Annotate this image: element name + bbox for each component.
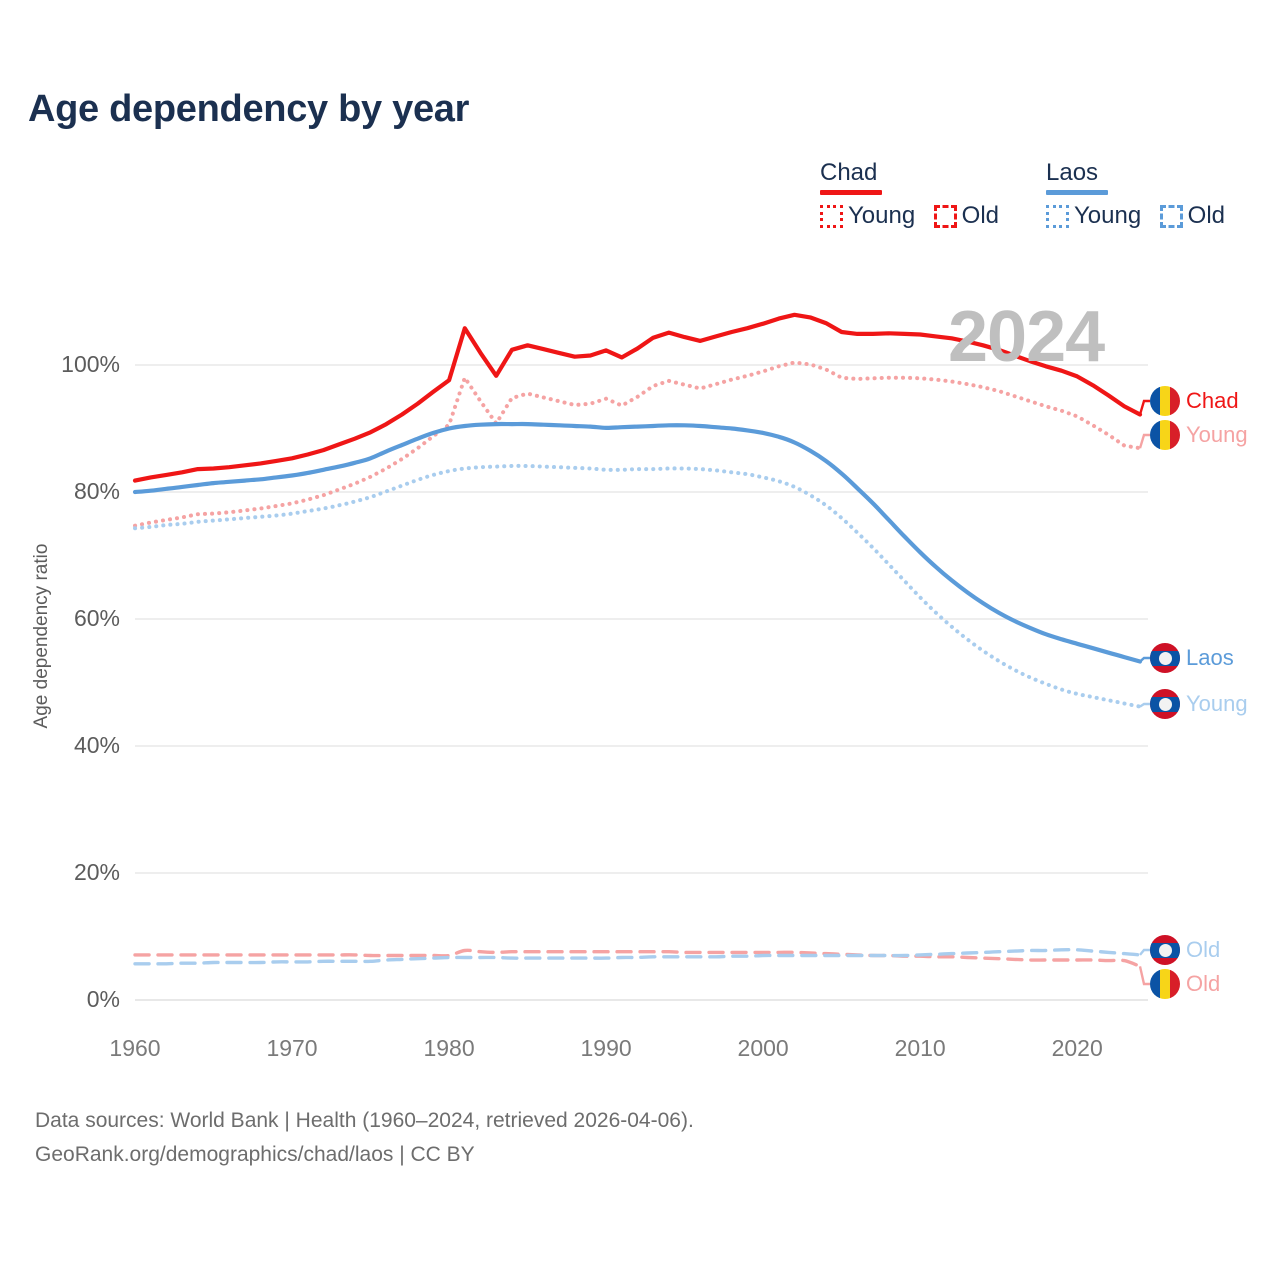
y-tick-label: 0% xyxy=(10,986,120,1013)
year-watermark: 2024 xyxy=(948,296,1104,378)
series-end-marker[interactable]: Old xyxy=(1150,935,1220,965)
chad-flag-icon xyxy=(1150,386,1180,416)
laos-flag-icon xyxy=(1150,689,1180,719)
leader-line xyxy=(1140,966,1150,984)
series-end-marker[interactable]: Old xyxy=(1150,969,1220,999)
x-tick-label: 2010 xyxy=(860,1035,980,1062)
chad-flag-icon xyxy=(1150,969,1180,999)
series-end-label: Old xyxy=(1186,937,1220,963)
leader-line xyxy=(1140,401,1150,415)
chart-page: Age dependency by year Chad Young Old La… xyxy=(0,0,1280,1280)
x-tick-label: 1970 xyxy=(232,1035,352,1062)
laos-flag-icon xyxy=(1150,935,1180,965)
footer: Data sources: World Bank | Health (1960–… xyxy=(35,1104,694,1172)
series-end-marker[interactable]: Young xyxy=(1150,689,1248,719)
x-tick-label: 1990 xyxy=(546,1035,666,1062)
y-tick-label: 40% xyxy=(10,732,120,759)
series-line xyxy=(135,466,1140,707)
series-end-label: Chad xyxy=(1186,388,1239,414)
y-tick-label: 80% xyxy=(10,478,120,505)
chad-flag-icon xyxy=(1150,420,1180,450)
footer-line-attribution: GeoRank.org/demographics/chad/laos | CC … xyxy=(35,1138,694,1172)
series-end-label: Young xyxy=(1186,422,1248,448)
x-tick-label: 1960 xyxy=(75,1035,195,1062)
series-end-label: Laos xyxy=(1186,645,1234,671)
y-tick-label: 20% xyxy=(10,859,120,886)
plot-area: 2024 Age dependency ratio 0%20%40%60%80%… xyxy=(0,0,1280,1280)
series-line xyxy=(135,363,1140,526)
leader-line xyxy=(1140,658,1150,662)
series-end-label: Young xyxy=(1186,691,1248,717)
y-tick-label: 60% xyxy=(10,605,120,632)
y-tick-label: 100% xyxy=(10,351,120,378)
x-tick-label: 2020 xyxy=(1017,1035,1137,1062)
x-tick-label: 2000 xyxy=(703,1035,823,1062)
line-chart xyxy=(0,0,1280,1280)
footer-line-sources: Data sources: World Bank | Health (1960–… xyxy=(35,1104,694,1138)
series-end-label: Old xyxy=(1186,971,1220,997)
series-end-marker[interactable]: Laos xyxy=(1150,643,1234,673)
leader-line xyxy=(1140,704,1150,707)
series-end-marker[interactable]: Chad xyxy=(1150,386,1239,416)
leader-line xyxy=(1140,435,1150,448)
series-end-marker[interactable]: Young xyxy=(1150,420,1248,450)
laos-flag-icon xyxy=(1150,643,1180,673)
leader-line xyxy=(1140,950,1150,955)
x-tick-label: 1980 xyxy=(389,1035,509,1062)
y-axis-label: Age dependency ratio xyxy=(31,536,53,736)
